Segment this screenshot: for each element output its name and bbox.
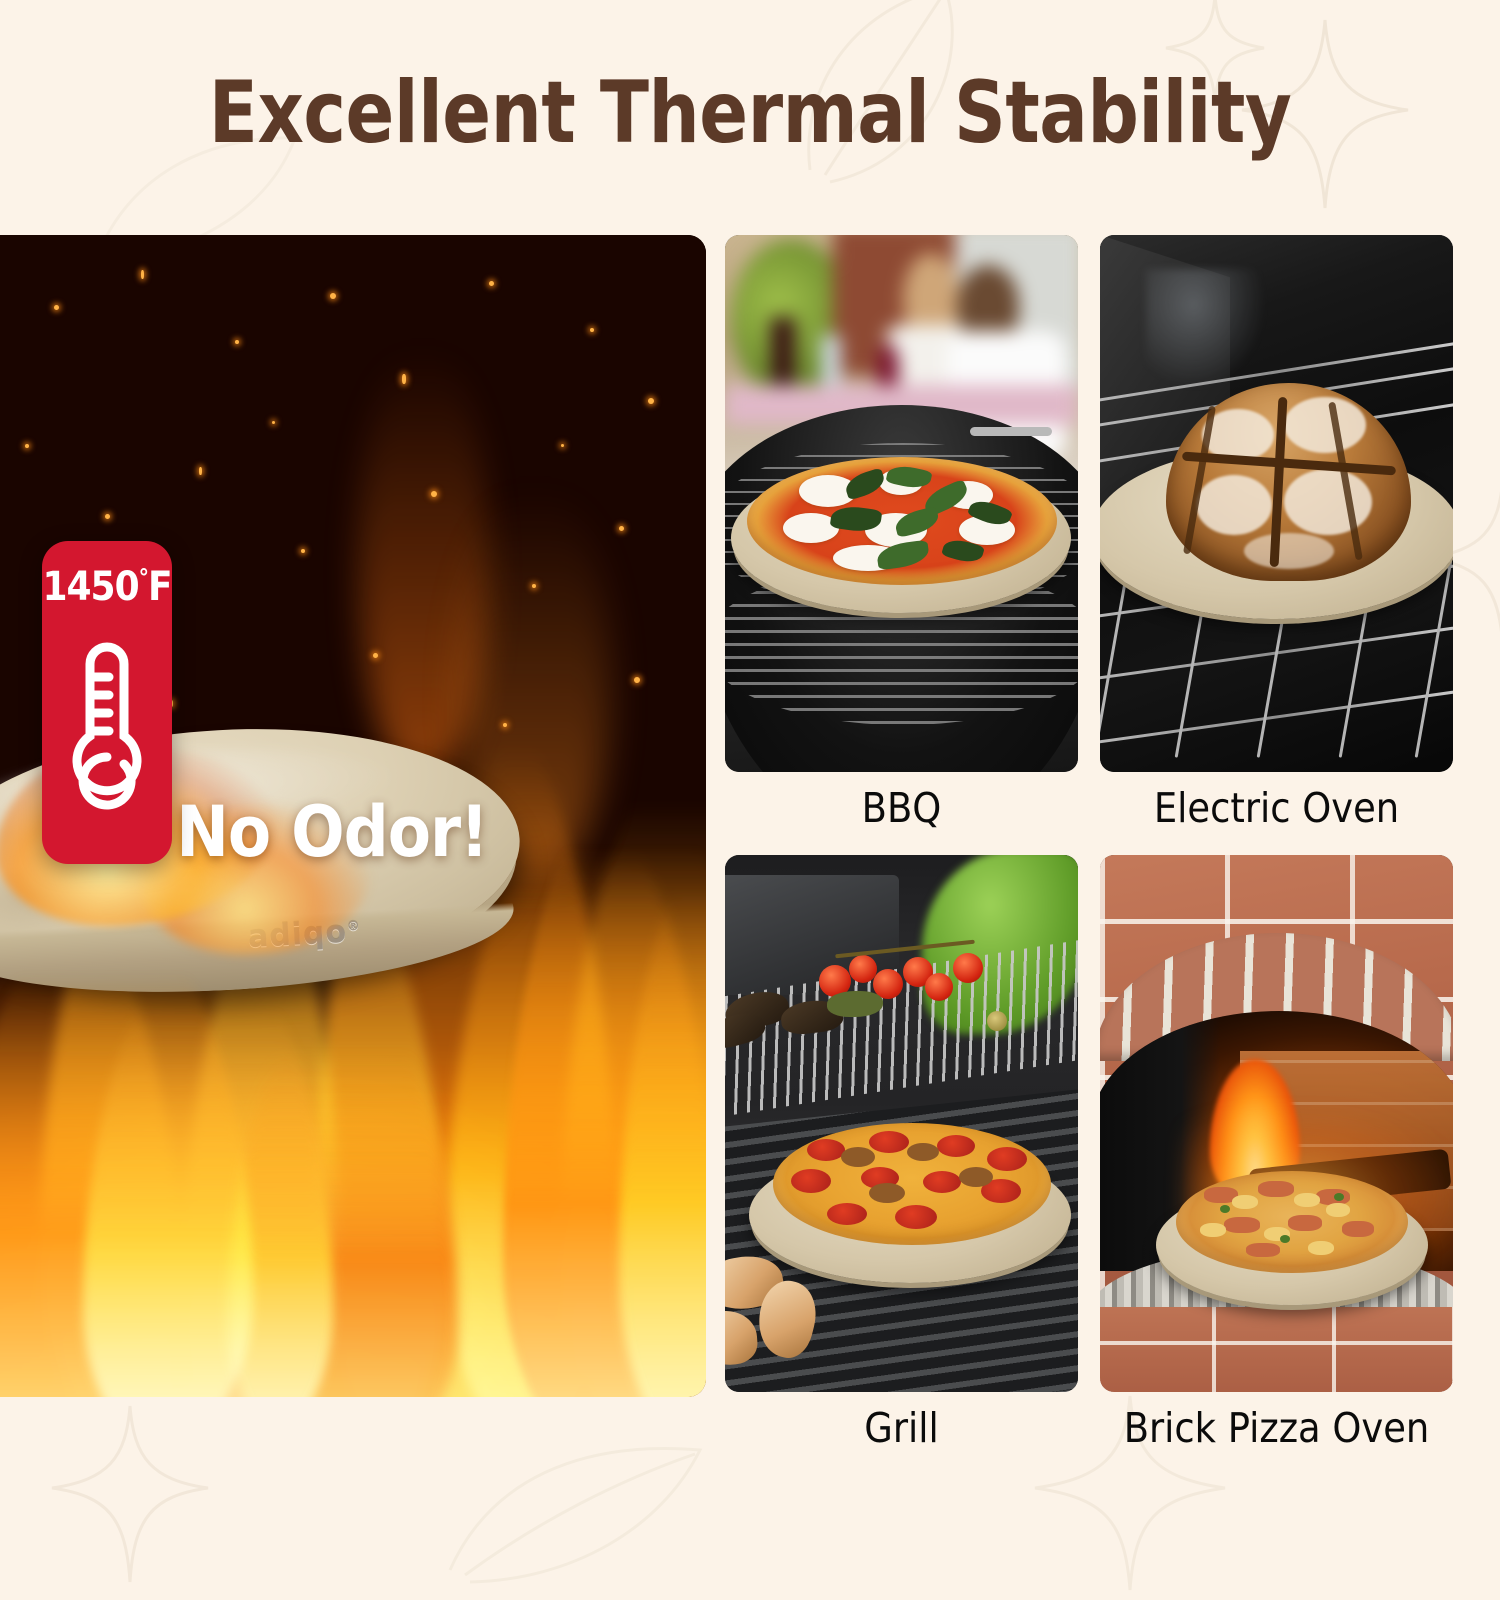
page-title: Excellent Thermal Stability xyxy=(209,63,1292,163)
caption-electric-oven: Electric Oven xyxy=(1100,784,1453,832)
margherita-pizza xyxy=(747,457,1057,585)
hawaiian-pizza xyxy=(1176,1171,1408,1273)
grilled-chicken xyxy=(725,1255,863,1375)
grilled-mushrooms xyxy=(725,983,899,1053)
page-title-container: Excellent Thermal Stability xyxy=(0,0,1500,225)
ember-glow xyxy=(0,955,706,1397)
usage-cell-grill: Grill xyxy=(725,855,1078,1392)
caption-grill: Grill xyxy=(725,1404,1078,1452)
bbq-grill-handle xyxy=(970,427,1052,436)
usage-cell-bbq: BBQ xyxy=(725,235,1078,772)
temperature-value: 1450°F xyxy=(42,567,171,607)
pepperoni-pizza xyxy=(773,1123,1051,1245)
sparkle-watermark-bottom-left xyxy=(40,1400,220,1590)
oven-reflection xyxy=(1146,269,1266,389)
usage-cell-brick-pizza-oven: Brick Pizza Oven xyxy=(1100,855,1453,1392)
photo-brick-pizza-oven xyxy=(1100,855,1453,1392)
photo-grill xyxy=(725,855,1078,1392)
thermometer-icon xyxy=(55,629,159,834)
usage-cell-electric-oven: Electric Oven xyxy=(1100,235,1453,772)
temperature-badge: 1450°F xyxy=(42,541,172,864)
caption-bbq: BBQ xyxy=(725,784,1078,832)
brick-base xyxy=(1100,1307,1453,1392)
grill-knob xyxy=(987,1011,1007,1031)
leaf-watermark-bottom-center xyxy=(430,1390,730,1590)
thermal-stability-flame-panel: adiqo® No Odor! 1450°F xyxy=(0,235,706,1397)
photo-bbq xyxy=(725,235,1078,772)
caption-brick-pizza-oven: Brick Pizza Oven xyxy=(1100,1404,1453,1452)
brand-logo: adiqo® xyxy=(247,914,362,955)
photo-electric-oven xyxy=(1100,235,1453,772)
